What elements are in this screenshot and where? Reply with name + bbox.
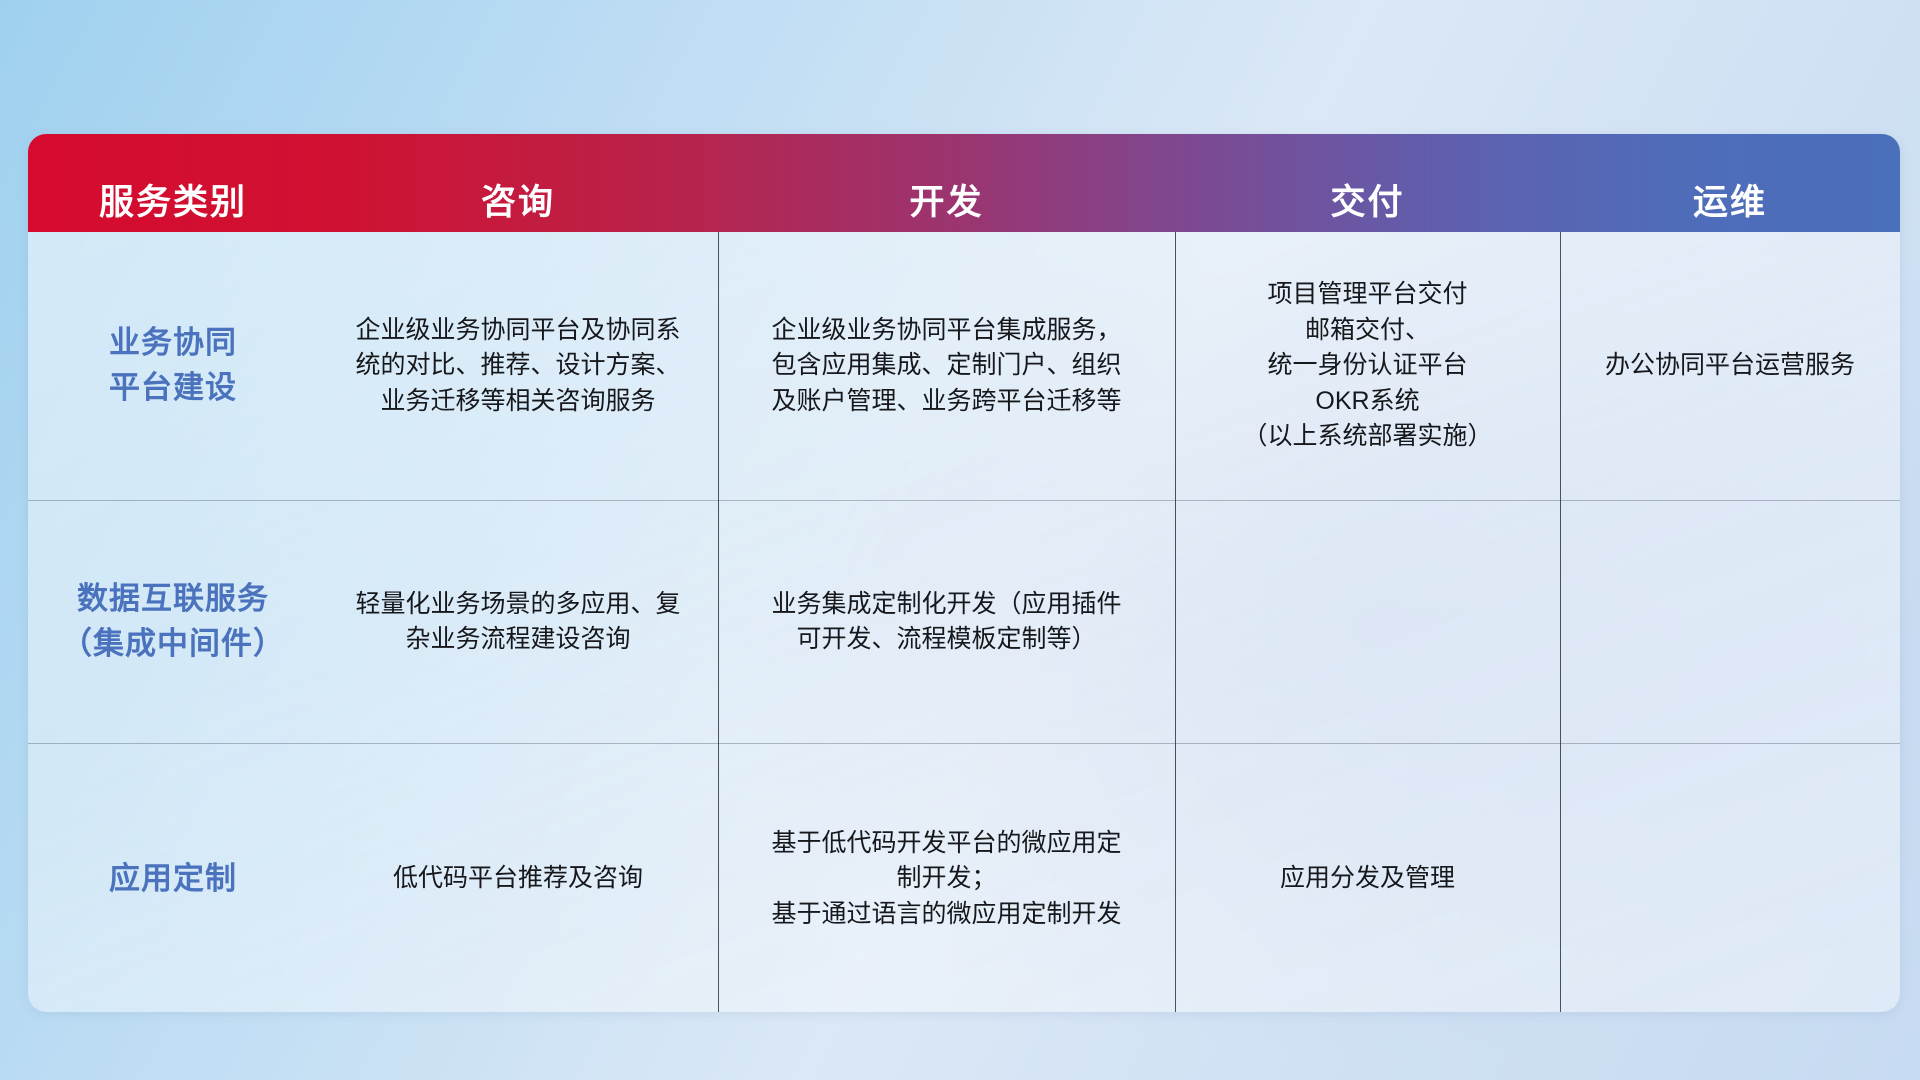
cell-delivery: 应用分发及管理: [1175, 744, 1560, 1012]
table-body: 业务协同 平台建设 企业级业务协同平台及协同系 统的对比、推荐、设计方案、 业务…: [28, 232, 1900, 1012]
cell-operations: [1560, 744, 1900, 1012]
cell-development: 业务集成定制化开发（应用插件 可开发、流程模板定制等）: [718, 501, 1175, 743]
cell-operations: [1560, 501, 1900, 743]
cell-development: 基于低代码开发平台的微应用定 制开发； 基于通过语言的微应用定制开发: [718, 744, 1175, 1012]
table-row: 数据互联服务 （集成中间件） 轻量化业务场景的多应用、复 杂业务流程建设咨询 业…: [28, 501, 1900, 744]
row-label-text: 业务协同 平台建设: [109, 321, 237, 411]
slide-canvas: 服务类别 咨询 开发 交付 运维 业务协同 平台建设: [0, 0, 1920, 1080]
cell-development: 企业级业务协同平台集成服务， 包含应用集成、定制门户、组织 及账户管理、业务跨平…: [718, 232, 1175, 500]
row-label-cell: 业务协同 平台建设: [28, 232, 318, 500]
table-row: 应用定制 低代码平台推荐及咨询 基于低代码开发平台的微应用定 制开发； 基于通过…: [28, 744, 1900, 1012]
cell-operations: 办公协同平台运营服务: [1560, 232, 1900, 500]
column-header-category-label: 服务类别: [99, 185, 247, 220]
service-matrix-table: 服务类别 咨询 开发 交付 运维 业务协同 平台建设: [28, 134, 1900, 1012]
cell-delivery: 项目管理平台交付 邮箱交付、 统一身份认证平台 OKR系统 （以上系统部署实施）: [1175, 232, 1560, 500]
column-header-delivery: 交付: [1175, 134, 1560, 232]
cell-consulting: 低代码平台推荐及咨询: [318, 744, 718, 1012]
row-label-cell: 应用定制: [28, 744, 318, 1012]
table-header-row: 服务类别 咨询 开发 交付 运维: [28, 134, 1900, 232]
column-header-operations: 运维: [1560, 134, 1900, 232]
cell-delivery: [1175, 501, 1560, 743]
column-header-consulting-label: 咨询: [481, 185, 555, 220]
column-header-category: 服务类别: [28, 134, 318, 232]
column-header-consulting: 咨询: [318, 134, 718, 232]
cell-consulting: 轻量化业务场景的多应用、复 杂业务流程建设咨询: [318, 501, 718, 743]
row-label-text: 应用定制: [109, 857, 237, 902]
column-header-operations-label: 运维: [1693, 185, 1767, 220]
row-label-cell: 数据互联服务 （集成中间件）: [28, 501, 318, 743]
column-header-delivery-label: 交付: [1330, 185, 1404, 220]
cell-consulting: 企业级业务协同平台及协同系 统的对比、推荐、设计方案、 业务迁移等相关咨询服务: [318, 232, 718, 500]
row-label-text: 数据互联服务 （集成中间件）: [61, 577, 285, 667]
table-row: 业务协同 平台建设 企业级业务协同平台及协同系 统的对比、推荐、设计方案、 业务…: [28, 232, 1900, 501]
column-header-development-label: 开发: [909, 185, 983, 220]
column-header-development: 开发: [718, 134, 1175, 232]
